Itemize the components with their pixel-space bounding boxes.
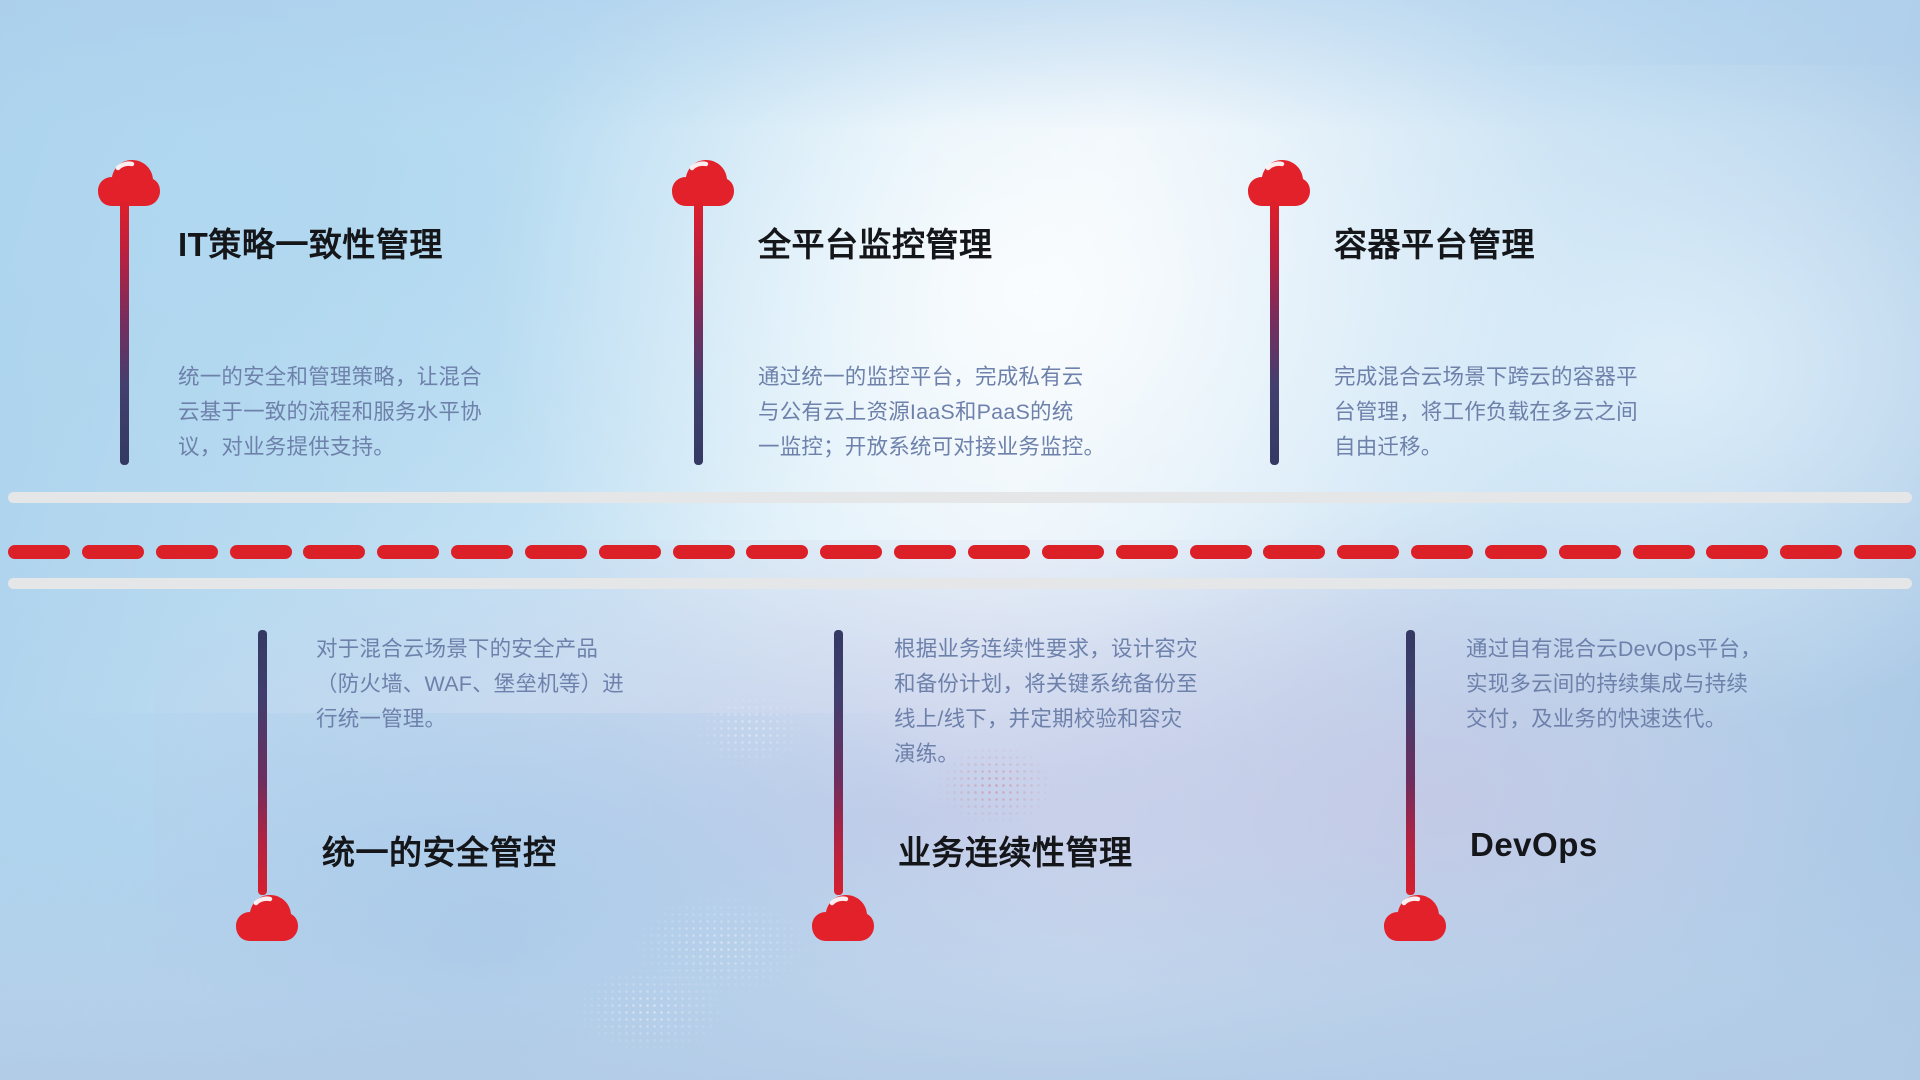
divider-dash xyxy=(1263,545,1325,559)
divider-dash xyxy=(1411,545,1473,559)
card-heading: IT策略一致性管理 xyxy=(178,218,443,266)
card-body-text: 通过统一的监控平台，完成私有云 与公有云上资源IaaS和PaaS的统 一监控；开… xyxy=(758,360,1208,465)
divider-dash xyxy=(156,545,218,559)
divider-dash xyxy=(1780,545,1842,559)
divider-dash xyxy=(1337,545,1399,559)
divider-rail-top xyxy=(8,492,1912,503)
card-body-text: 统一的安全和管理策略，让混合 云基于一致的流程和服务水平协 议，对业务提供支持。 xyxy=(178,360,608,465)
divider-dash xyxy=(1190,545,1252,559)
divider-dash xyxy=(1485,545,1547,559)
cloud-icon xyxy=(812,895,874,943)
divider-dash xyxy=(599,545,661,559)
divider-dash xyxy=(673,545,735,559)
card-body-text: 根据业务连续性要求，设计容灾 和备份计划，将关键系统备份至 线上/线下，并定期校… xyxy=(894,632,1334,772)
cloud-icon xyxy=(236,895,298,943)
divider-dash xyxy=(230,545,292,559)
card-body-text: 完成混合云场景下跨云的容器平 台管理，将工作负载在多云之间 自由迁移。 xyxy=(1334,360,1774,465)
cloud-icon xyxy=(672,160,734,208)
connector-stem xyxy=(120,200,129,465)
divider-dash xyxy=(1559,545,1621,559)
card-heading: 业务连续性管理 xyxy=(898,826,1133,874)
divider-dash xyxy=(820,545,882,559)
divider-dash xyxy=(451,545,513,559)
divider-dash xyxy=(1633,545,1695,559)
divider-dash xyxy=(82,545,144,559)
card-body-text: 通过自有混合云DevOps平台， 实现多云间的持续集成与持续 交付，及业务的快速… xyxy=(1466,632,1896,737)
divider-dash xyxy=(377,545,439,559)
card-heading: DevOps xyxy=(1470,826,1598,864)
divider-dash xyxy=(1854,545,1916,559)
divider-dash xyxy=(303,545,365,559)
cloud-icon xyxy=(1248,160,1310,208)
card-heading: 全平台监控管理 xyxy=(758,218,993,266)
connector-stem xyxy=(694,200,703,465)
connector-stem xyxy=(834,630,843,895)
card-heading: 容器平台管理 xyxy=(1334,218,1535,266)
card-body-text: 对于混合云场景下的安全产品 （防火墙、WAF、堡垒机等）进 行统一管理。 xyxy=(316,632,756,737)
divider-dash xyxy=(8,545,70,559)
divider-dash xyxy=(1042,545,1104,559)
divider-dash xyxy=(1116,545,1178,559)
connector-stem xyxy=(1406,630,1415,895)
connector-stem xyxy=(258,630,267,895)
cloud-icon xyxy=(1384,895,1446,943)
divider-dash xyxy=(894,545,956,559)
connector-stem xyxy=(1270,200,1279,465)
divider-dash xyxy=(746,545,808,559)
divider-dash xyxy=(1706,545,1768,559)
divider-dash xyxy=(525,545,587,559)
divider-dashed-line xyxy=(0,545,1920,559)
divider-rail-bottom xyxy=(8,578,1912,589)
divider-dash xyxy=(968,545,1030,559)
card-heading: 统一的安全管控 xyxy=(322,826,557,874)
cloud-icon xyxy=(98,160,160,208)
